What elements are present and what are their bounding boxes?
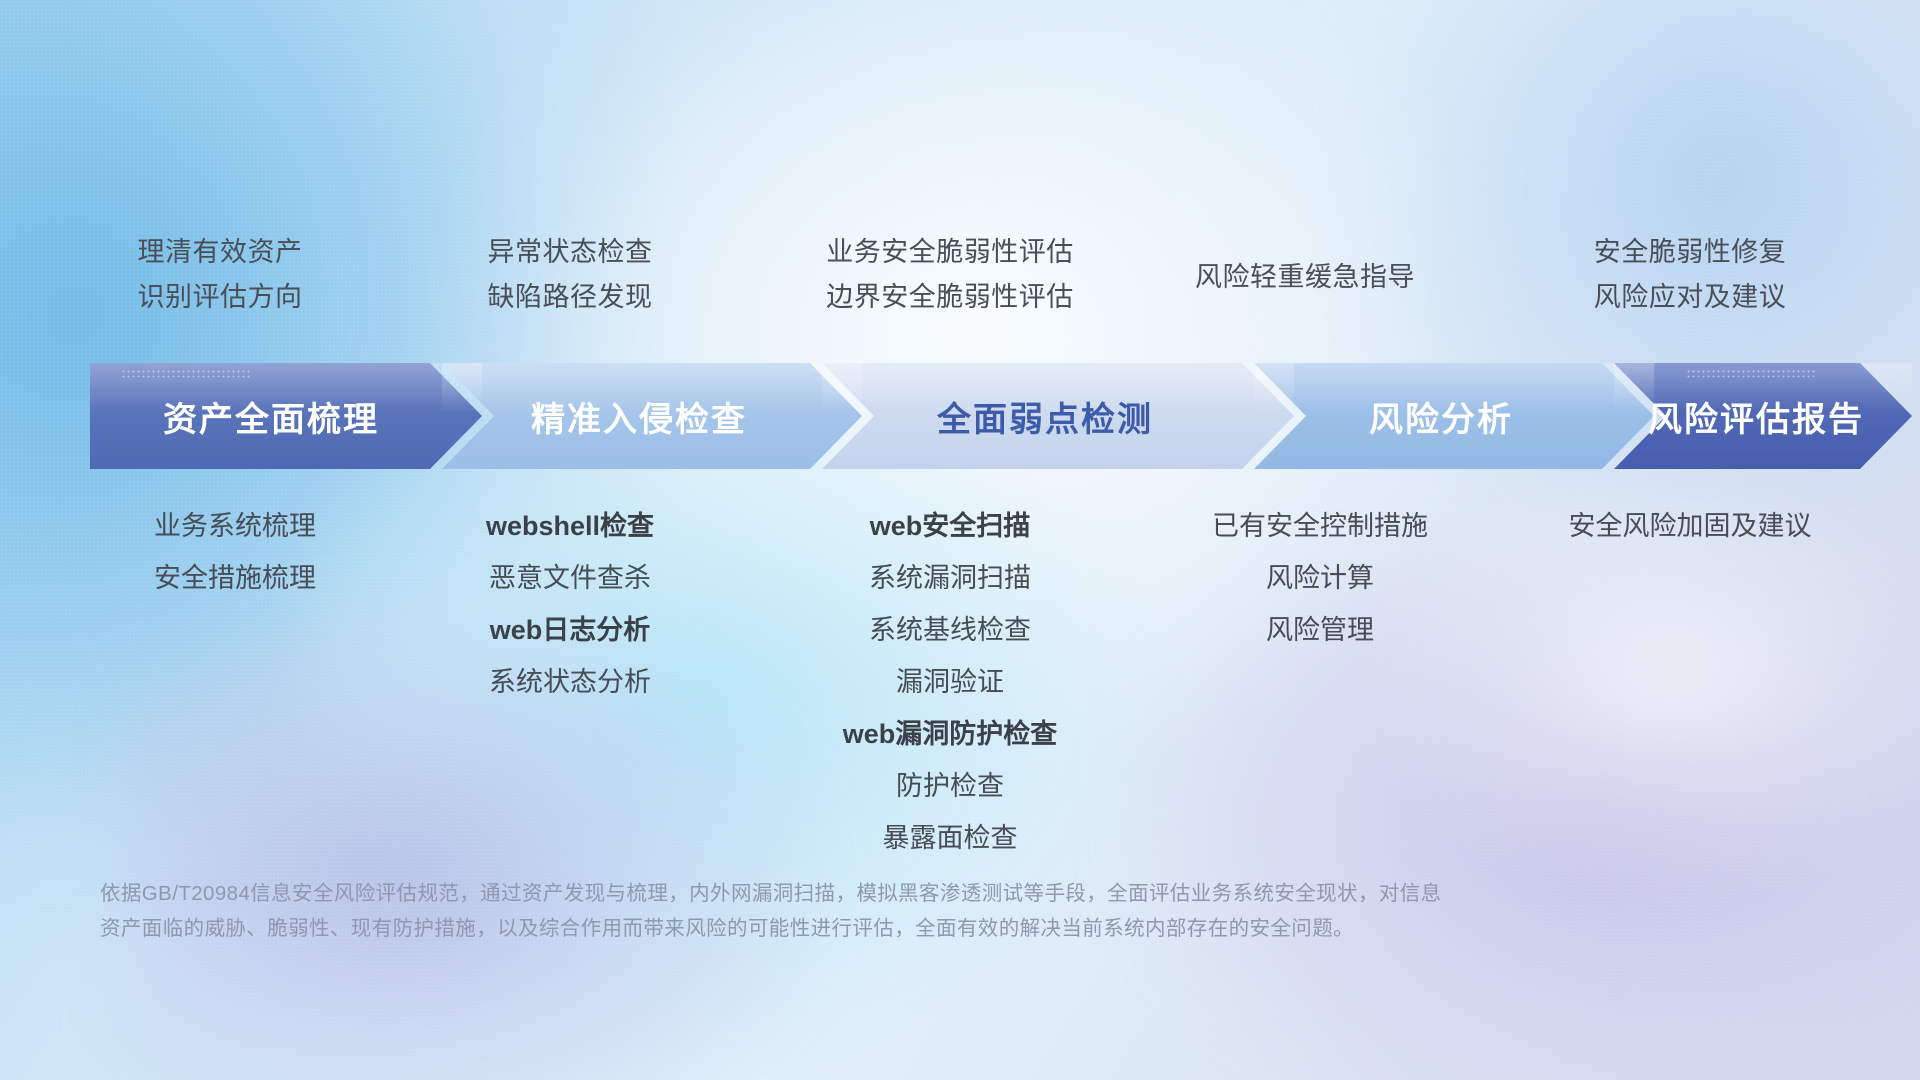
flow-step-label: 资产全面梳理 xyxy=(163,392,379,441)
bottom-list-group-2: webshell检查 恶意文件查杀 web日志分析 系统状态分析 xyxy=(425,500,715,708)
slide-content: 理清有效资产 识别评估方向 异常状态检查 缺陷路径发现 业务安全脆弱性评估 边界… xyxy=(0,0,1920,1080)
bottom-list-group-1: 业务系统梳理 安全措施梳理 xyxy=(90,500,380,604)
list-item: 业务系统梳理 xyxy=(90,500,380,552)
flow-step-label: 风险分析 xyxy=(1369,392,1513,441)
top-caption-group-5: 安全脆弱性修复 风险应对及建议 xyxy=(1530,230,1850,320)
list-item: web漏洞防护检查 xyxy=(785,708,1115,760)
bottom-list-group-4: 已有安全控制措施 风险计算 风险管理 xyxy=(1165,500,1475,656)
process-flow-band: 资产全面梳理 精准入侵检查 xyxy=(90,363,1912,469)
flow-step-label: 全面弱点检测 xyxy=(937,392,1153,441)
list-item: 安全风险加固及建议 xyxy=(1520,500,1860,552)
flow-step-risk-analysis[interactable]: 风险分析 xyxy=(1254,363,1654,469)
footer-line-2: 资产面临的威胁、脆弱性、现有防护措施，以及综合作用而带来风险的可能性进行评估，全… xyxy=(100,911,1620,946)
list-item: web日志分析 xyxy=(425,604,715,656)
footer-description: 依据GB/T20984信息安全风险评估规范，通过资产发现与梳理，内外网漏洞扫描，… xyxy=(100,876,1620,946)
bottom-list-group-3: web安全扫描 系统漏洞扫描 系统基线检查 漏洞验证 web漏洞防护检查 防护检… xyxy=(785,500,1115,864)
top-caption-line: 理清有效资产 xyxy=(80,230,360,275)
chevron-dot-texture xyxy=(121,369,251,379)
top-caption-line: 风险应对及建议 xyxy=(1530,275,1850,320)
list-item: web安全扫描 xyxy=(785,500,1115,552)
top-caption-line: 风险轻重缓急指导 xyxy=(1155,255,1455,300)
flow-step-asset-inventory[interactable]: 资产全面梳理 xyxy=(90,363,482,469)
list-item: 风险计算 xyxy=(1165,552,1475,604)
list-item: 恶意文件查杀 xyxy=(425,552,715,604)
list-item: 暴露面检查 xyxy=(785,812,1115,864)
list-item: 系统漏洞扫描 xyxy=(785,552,1115,604)
top-caption-line: 业务安全脆弱性评估 xyxy=(790,230,1110,275)
list-item: 系统基线检查 xyxy=(785,604,1115,656)
list-item: 系统状态分析 xyxy=(425,656,715,708)
bottom-list-group-5: 安全风险加固及建议 xyxy=(1520,500,1860,552)
flow-step-intrusion-check[interactable]: 精准入侵检查 xyxy=(442,363,862,469)
top-caption-group-3: 业务安全脆弱性评估 边界安全脆弱性评估 xyxy=(790,230,1110,320)
list-item: webshell检查 xyxy=(425,500,715,552)
top-caption-line: 异常状态检查 xyxy=(430,230,710,275)
footer-line-1: 依据GB/T20984信息安全风险评估规范，通过资产发现与梳理，内外网漏洞扫描，… xyxy=(100,876,1620,911)
top-caption-line: 安全脆弱性修复 xyxy=(1530,230,1850,275)
top-caption-group-2: 异常状态检查 缺陷路径发现 xyxy=(430,230,710,320)
top-caption-line: 识别评估方向 xyxy=(80,275,360,320)
top-caption-line: 缺陷路径发现 xyxy=(430,275,710,320)
top-caption-group-4: 风险轻重缓急指导 xyxy=(1155,255,1455,300)
flow-step-label: 风险评估报告 xyxy=(1648,392,1864,441)
top-caption-line: 边界安全脆弱性评估 xyxy=(790,275,1110,320)
flow-step-weakness-detection[interactable]: 全面弱点检测 xyxy=(822,363,1294,469)
list-item: 防护检查 xyxy=(785,760,1115,812)
chevron-dot-texture xyxy=(1686,369,1816,379)
top-caption-group-1: 理清有效资产 识别评估方向 xyxy=(80,230,360,320)
list-item: 安全措施梳理 xyxy=(90,552,380,604)
list-item: 风险管理 xyxy=(1165,604,1475,656)
flow-step-label: 精准入侵检查 xyxy=(531,392,747,441)
list-item: 已有安全控制措施 xyxy=(1165,500,1475,552)
flow-step-risk-report[interactable]: 风险评估报告 xyxy=(1614,363,1912,469)
list-item: 漏洞验证 xyxy=(785,656,1115,708)
